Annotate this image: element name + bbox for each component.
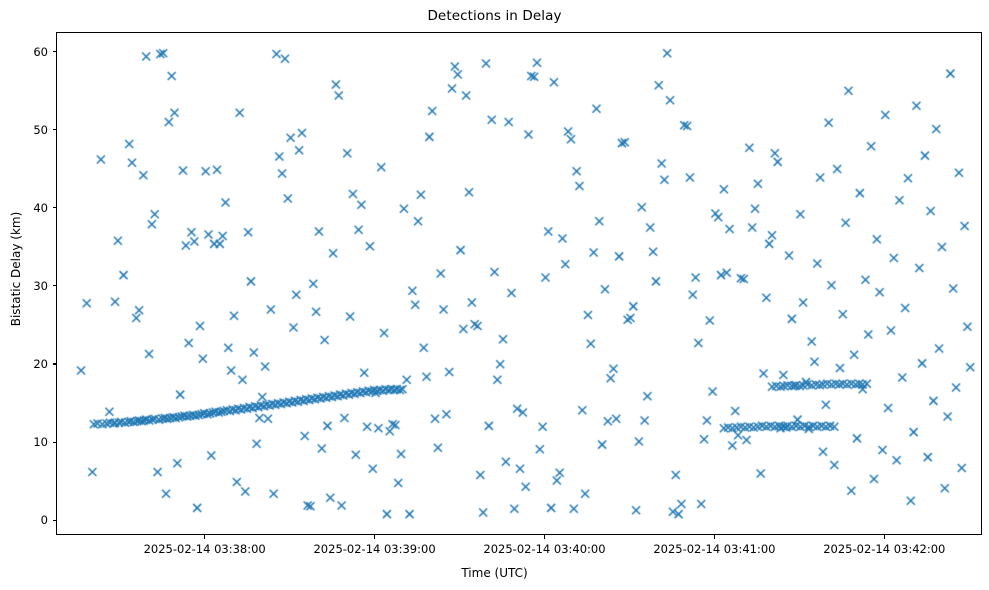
page-title: Detections in Delay [0,8,989,24]
y-tick-mark [53,207,57,208]
x-tick-label: 2025-02-14 03:38:00 [144,542,266,556]
x-tick-mark [884,535,885,539]
y-tick-label: 50 [14,123,48,137]
y-tick-mark [53,442,57,443]
x-tick-mark [714,535,715,539]
y-tick-label: 60 [14,45,48,59]
x-tick-mark [544,535,545,539]
plot-area [56,32,982,535]
x-axis-label: Time (UTC) [0,566,989,580]
y-axis-label: Bistatic Delay (km) [9,159,23,379]
chart-figure: Detections in Delay 2025-02-14 03:38:002… [0,0,989,590]
x-tick-label: 2025-02-14 03:40:00 [483,542,605,556]
y-tick-label: 10 [14,435,48,449]
y-tick-mark [53,363,57,364]
x-tick-mark [204,535,205,539]
y-tick-label: 0 [14,513,48,527]
x-tick-label: 2025-02-14 03:41:00 [653,542,775,556]
x-tick-label: 2025-02-14 03:39:00 [313,542,435,556]
y-tick-mark [53,51,57,52]
scatter-plot-canvas [57,33,982,535]
y-tick-mark [53,520,57,521]
x-tick-mark [374,535,375,539]
y-tick-mark [53,285,57,286]
y-tick-mark [53,129,57,130]
x-tick-label: 2025-02-14 03:42:00 [823,542,945,556]
